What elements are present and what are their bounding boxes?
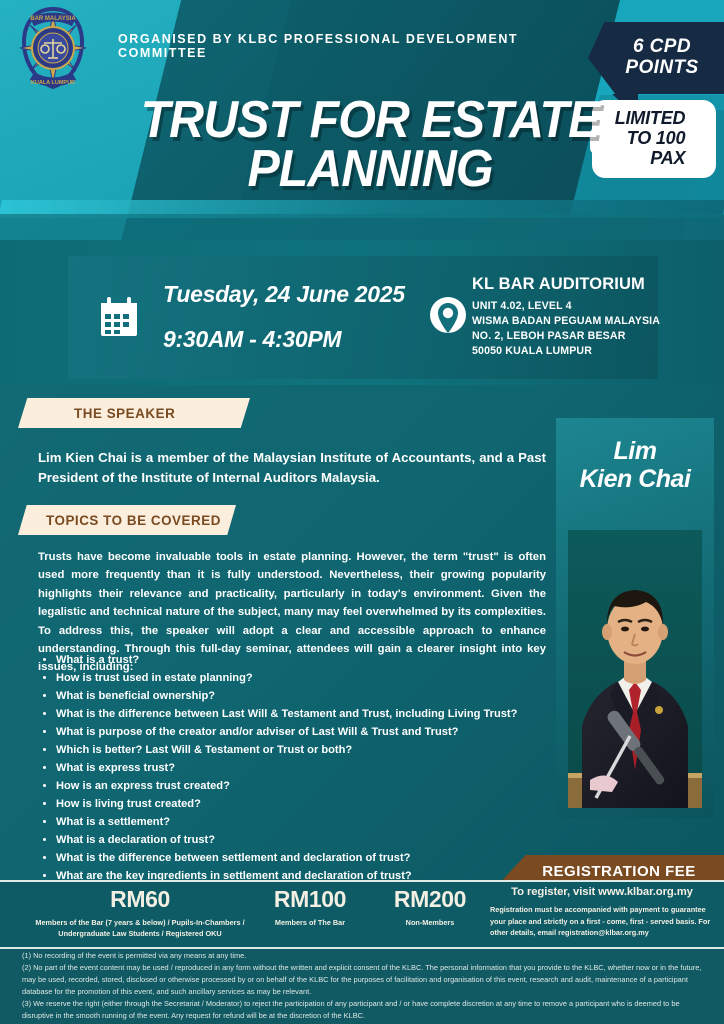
poster-title: TRUST FOR ESTATE PLANNING xyxy=(110,96,630,194)
cpd-badge-line2: POINTS xyxy=(625,58,698,79)
section-tab-topics: TOPICS TO BE COVERED xyxy=(18,505,236,535)
list-item: How is living trust created? xyxy=(56,796,566,814)
speaker-name-line-2: Kien Chai xyxy=(556,466,714,494)
list-item: What is the difference between Last Will… xyxy=(56,706,566,724)
list-item: What is a settlement? xyxy=(56,814,566,832)
section-tab-topics-label: TOPICS TO BE COVERED xyxy=(18,513,221,528)
list-item: What is beneficial ownership? xyxy=(56,688,566,706)
venue-name: KL BAR AUDITORIUM xyxy=(472,275,645,294)
event-poster: BAR MALAYSIA KUALA LUMPUR ORGANISED BY K… xyxy=(0,0,724,1024)
venue-address-line-3: NO. 2, LEBOH PASAR BESAR xyxy=(472,329,660,344)
section-tab-speaker-label: THE SPEAKER xyxy=(18,406,175,421)
speaker-photo xyxy=(560,530,710,818)
speaker-bio: Lim Kien Chai is a member of the Malaysi… xyxy=(38,448,546,488)
venue-address: UNIT 4.02, LEVEL 4 WISMA BADAN PEGUAM MA… xyxy=(472,299,660,359)
event-time: 9:30AM - 4:30PM xyxy=(163,326,341,353)
venue-address-line-1: UNIT 4.02, LEVEL 4 xyxy=(472,299,660,314)
list-item: What is express trust? xyxy=(56,760,566,778)
list-item: Which is better? Last Will & Testament o… xyxy=(56,742,566,760)
location-pin-icon xyxy=(428,297,468,339)
speaker-name-line-1: Lim xyxy=(556,438,714,466)
list-item: What is a trust? xyxy=(56,652,566,670)
list-item: What is the difference between settlemen… xyxy=(56,850,566,868)
svg-text:BAR MALAYSIA: BAR MALAYSIA xyxy=(30,16,76,22)
bar-malaysia-logo-icon: BAR MALAYSIA KUALA LUMPUR xyxy=(12,6,94,90)
venue-address-line-4: 50050 KUALA LUMPUR xyxy=(472,344,660,359)
calendar-icon xyxy=(98,296,140,340)
section-tab-speaker: THE SPEAKER xyxy=(18,398,250,428)
register-url-line[interactable]: To register, visit www.klbar.org.my xyxy=(490,886,714,898)
list-item: How is an express trust created? xyxy=(56,778,566,796)
footer-note-3: (3) We reserve the right (either through… xyxy=(22,998,706,1022)
registration-info: To register, visit www.klbar.org.my Regi… xyxy=(490,886,714,939)
header-stripe-teal xyxy=(0,214,724,240)
svg-text:KUALA LUMPUR: KUALA LUMPUR xyxy=(31,80,75,86)
title-line-2: PLANNING xyxy=(128,145,612,194)
cpd-badge-line1: 6 CPD xyxy=(625,37,698,58)
register-instructions: Registration must be accompanied with pa… xyxy=(490,904,714,939)
footer-note-1: (1) No recording of the event is permitt… xyxy=(22,950,706,962)
organiser-line: ORGANISED BY KLBC PROFESSIONAL DEVELOPME… xyxy=(118,32,598,60)
list-item: What is a declaration of trust? xyxy=(56,832,566,850)
title-line-1: TRUST FOR ESTATE xyxy=(128,96,612,145)
speaker-name: Lim Kien Chai xyxy=(556,438,714,493)
registration-fee-tab-label: REGISTRATION FEE xyxy=(524,863,696,880)
footer-note-2: (2) No part of the event content may be … xyxy=(22,962,706,998)
venue-address-line-2: WISMA BADAN PEGUAM MALAYSIA xyxy=(472,314,660,329)
list-item: What is purpose of the creator and/or ad… xyxy=(56,724,566,742)
cpd-points-badge: 6 CPD POINTS xyxy=(588,22,724,94)
list-item: How is trust used in estate planning? xyxy=(56,670,566,688)
footer-terms: (1) No recording of the event is permitt… xyxy=(22,950,706,1022)
event-date: Tuesday, 24 June 2025 xyxy=(163,281,405,308)
